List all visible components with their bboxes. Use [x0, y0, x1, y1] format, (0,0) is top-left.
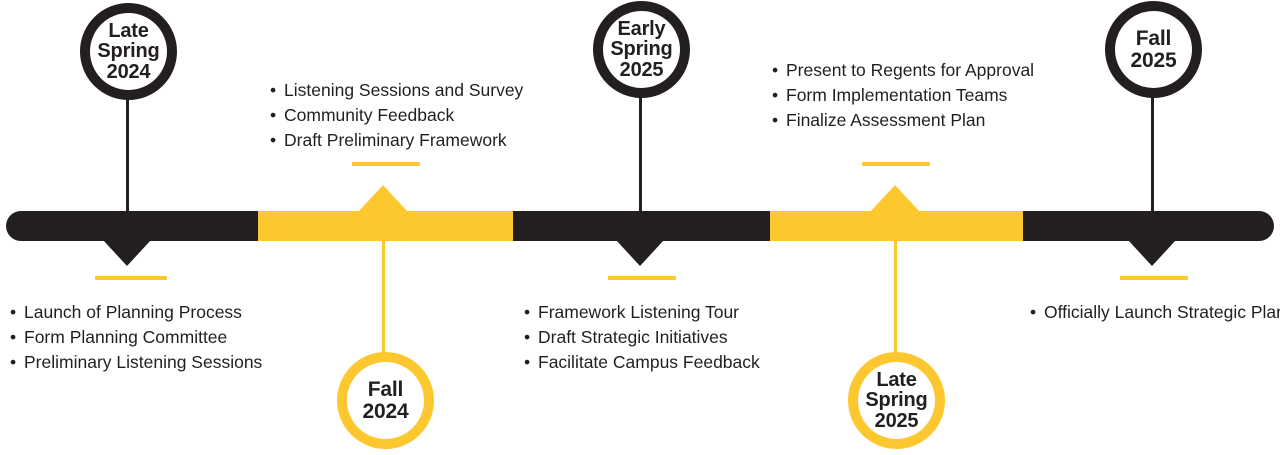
bullets-early-spring-2025: Framework Listening Tour Draft Strategic…	[524, 300, 760, 375]
bullets-fall-2024: Listening Sessions and Survey Community …	[270, 78, 523, 153]
milestone-circle-fall-2025[interactable]: Fall 2025	[1105, 1, 1202, 98]
bullet-item: Form Implementation Teams	[772, 83, 1034, 108]
bullet-item: Draft Preliminary Framework	[270, 128, 523, 153]
bullets-late-spring-2025: Present to Regents for Approval Form Imp…	[772, 58, 1034, 133]
bullet-item: Listening Sessions and Survey	[270, 78, 523, 103]
connector-early-spring-2025	[639, 95, 642, 213]
milestone-label-line: Fall	[1136, 27, 1171, 50]
milestone-label-line: Early	[618, 18, 666, 40]
milestone-label-line: 2024	[363, 400, 409, 423]
bullet-item: Draft Strategic Initiatives	[524, 325, 760, 350]
milestone-circle-late-spring-2024[interactable]: Late Spring 2024	[80, 3, 177, 100]
milestone-label-line: Late	[108, 20, 148, 42]
connector-fall-2024	[382, 240, 385, 355]
arrow-down-fall-2025	[1128, 240, 1176, 266]
timeline-infographic: Late Spring 2024 Fall 2024 Early Spring …	[0, 0, 1280, 455]
bullet-item: Preliminary Listening Sessions	[10, 350, 262, 375]
bullets-late-spring-2024: Launch of Planning Process Form Planning…	[10, 300, 262, 375]
accent-rule-fall-2024	[352, 162, 420, 166]
accent-rule-fall-2025	[1120, 276, 1188, 280]
milestone-label-line: 2025	[620, 59, 664, 81]
accent-rule-early-spring-2025	[608, 276, 676, 280]
milestone-label-line: Spring	[97, 40, 159, 62]
timeline-segment-4	[770, 211, 1023, 241]
bullet-item: Finalize Assessment Plan	[772, 108, 1034, 133]
milestone-circle-early-spring-2025[interactable]: Early Spring 2025	[593, 1, 690, 98]
connector-late-spring-2024	[126, 98, 129, 213]
milestone-label-line: 2025	[1131, 49, 1177, 72]
bullet-item: Officially Launch Strategic Plan	[1030, 300, 1280, 325]
bullet-item: Present to Regents for Approval	[772, 58, 1034, 83]
arrow-down-early-spring-2025	[616, 240, 664, 266]
milestone-circle-fall-2024[interactable]: Fall 2024	[337, 352, 434, 449]
bullet-item: Framework Listening Tour	[524, 300, 760, 325]
timeline-segment-3	[513, 211, 770, 241]
milestone-label-line: Spring	[865, 389, 927, 411]
bullet-item: Facilitate Campus Feedback	[524, 350, 760, 375]
bullet-item: Form Planning Committee	[10, 325, 262, 350]
timeline-segment-5	[1023, 211, 1274, 241]
arrow-down-late-spring-2024	[103, 240, 151, 266]
milestone-label-line: 2025	[875, 410, 919, 432]
bullets-fall-2025: Officially Launch Strategic Plan	[1030, 300, 1280, 325]
milestone-label-line: Spring	[610, 38, 672, 60]
timeline-segment-1	[6, 211, 258, 241]
milestone-label-line: Fall	[368, 378, 403, 401]
milestone-circle-late-spring-2025[interactable]: Late Spring 2025	[848, 352, 945, 449]
arrow-up-fall-2024	[359, 185, 407, 211]
bullet-item: Launch of Planning Process	[10, 300, 262, 325]
timeline-segment-2	[258, 211, 513, 241]
arrow-up-late-spring-2025	[871, 185, 919, 211]
bullet-item: Community Feedback	[270, 103, 523, 128]
milestone-label-line: Late	[876, 369, 916, 391]
connector-fall-2025	[1151, 95, 1154, 213]
connector-late-spring-2025	[894, 240, 897, 355]
accent-rule-late-spring-2024	[95, 276, 167, 280]
milestone-label-line: 2024	[107, 61, 151, 83]
accent-rule-late-spring-2025	[862, 162, 930, 166]
